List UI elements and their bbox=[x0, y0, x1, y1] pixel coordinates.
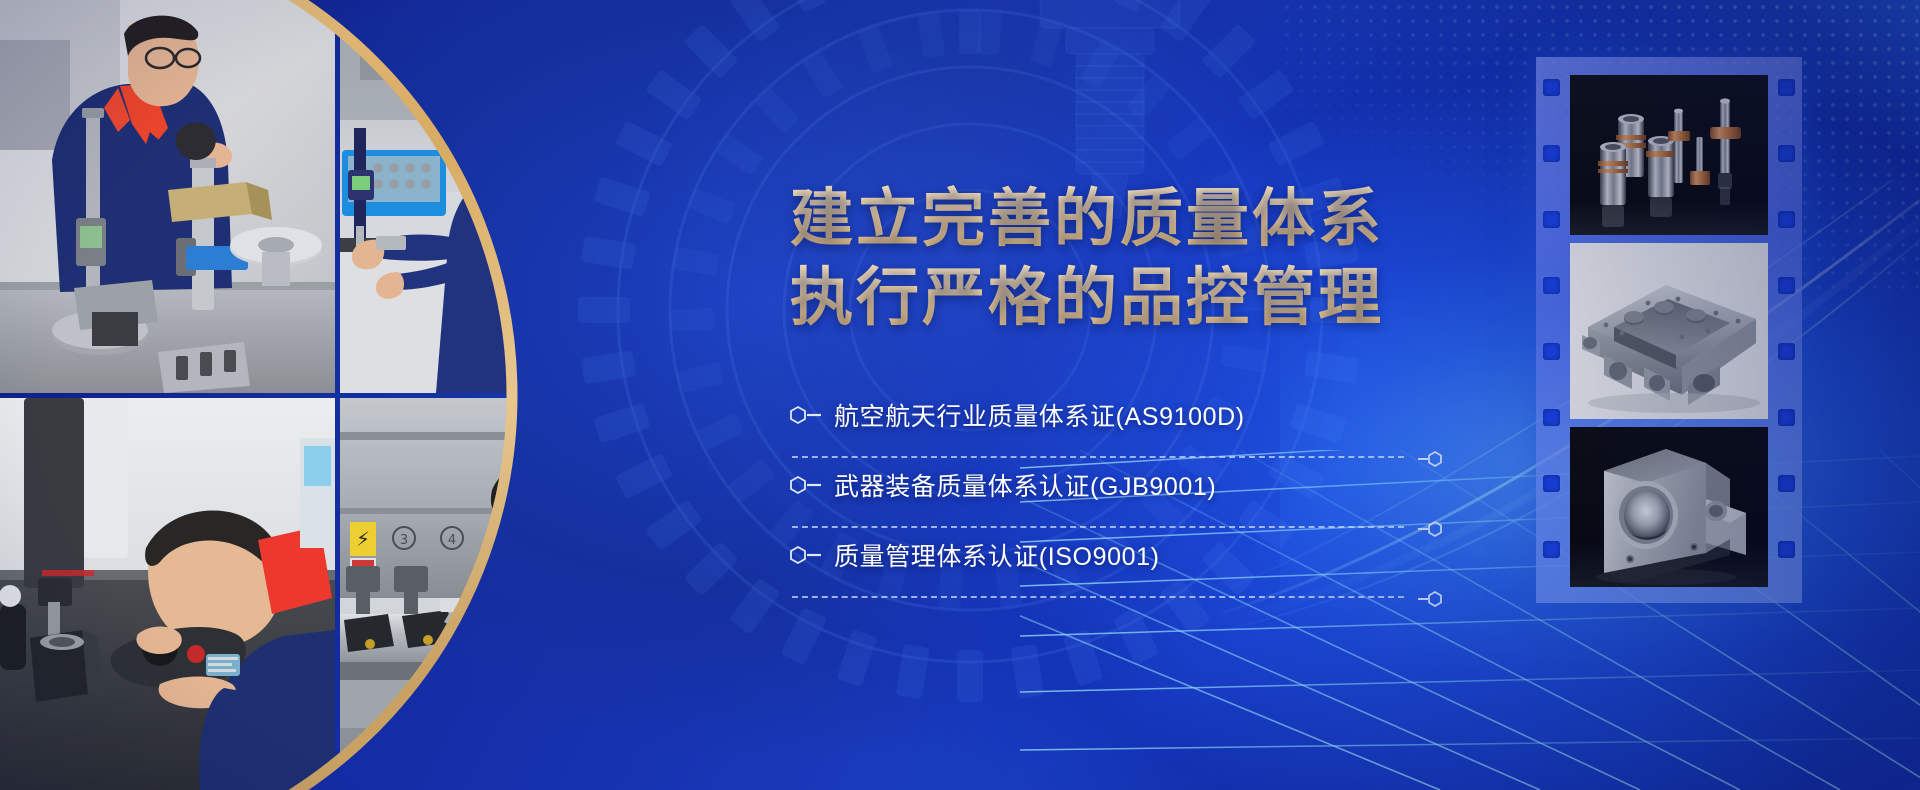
certification-label: 武器装备质量体系认证(GJB9001) bbox=[834, 467, 1216, 503]
photo-collage: ⚡ 3 4 bbox=[0, 0, 700, 790]
film-perforation bbox=[1778, 409, 1795, 426]
film-perforation bbox=[1543, 79, 1560, 96]
headline-line-2: 执行严格的品控管理 bbox=[790, 257, 1430, 340]
film-perforation bbox=[1778, 541, 1795, 558]
certification-label: 质量管理体系认证(ISO9001) bbox=[834, 537, 1160, 573]
film-perforation bbox=[1778, 211, 1795, 228]
film-perforation bbox=[1543, 343, 1560, 360]
product-filmstrip bbox=[1536, 57, 1802, 603]
certification-dashed-rule bbox=[792, 526, 1404, 528]
photo-cmm-operator bbox=[0, 398, 335, 790]
certification-item[interactable]: 武器装备质量体系认证(GJB9001) bbox=[790, 462, 1450, 532]
certification-dashed-rule bbox=[792, 456, 1404, 458]
certification-dashed-rule bbox=[792, 596, 1404, 598]
certification-item[interactable]: 质量管理体系认证(ISO9001) bbox=[790, 532, 1450, 602]
film-perforation bbox=[1778, 475, 1795, 492]
film-perforation bbox=[1543, 409, 1560, 426]
film-perforation bbox=[1543, 145, 1560, 162]
hexagon-node-icon bbox=[1418, 589, 1444, 609]
photo-height-gauge-inspection bbox=[0, 0, 335, 393]
hexagon-bullet-icon bbox=[790, 474, 824, 496]
film-perforation bbox=[1543, 475, 1560, 492]
certification-item[interactable]: 航空航天行业质量体系证(AS9100D) bbox=[790, 392, 1450, 462]
film-perforation bbox=[1543, 211, 1560, 228]
certification-list: 航空航天行业质量体系证(AS9100D) 武器装备质量体系认证(GJB9001) bbox=[790, 392, 1450, 602]
photo-female-inspector-measuring bbox=[340, 0, 660, 393]
film-perforation bbox=[1543, 541, 1560, 558]
film-perforation bbox=[1778, 145, 1795, 162]
product-shafts-bushings[interactable] bbox=[1570, 75, 1768, 235]
quality-system-banner: ⚡ 3 4 bbox=[0, 0, 1920, 790]
product-bearing-block[interactable] bbox=[1570, 427, 1768, 587]
headline-block: 建立完善的质量体系 执行严格的品控管理 bbox=[790, 178, 1430, 340]
photo-cnc-machine-operator: ⚡ 3 4 bbox=[340, 398, 660, 790]
film-perforation bbox=[1778, 343, 1795, 360]
certification-label: 航空航天行业质量体系证(AS9100D) bbox=[834, 397, 1245, 433]
film-perforation bbox=[1778, 277, 1795, 294]
headline-line-1: 建立完善的质量体系 bbox=[790, 178, 1430, 261]
hexagon-bullet-icon bbox=[790, 544, 824, 566]
product-aluminum-housing[interactable] bbox=[1570, 243, 1768, 419]
film-perforation bbox=[1543, 277, 1560, 294]
film-perforation bbox=[1778, 79, 1795, 96]
hexagon-bullet-icon bbox=[790, 404, 824, 426]
